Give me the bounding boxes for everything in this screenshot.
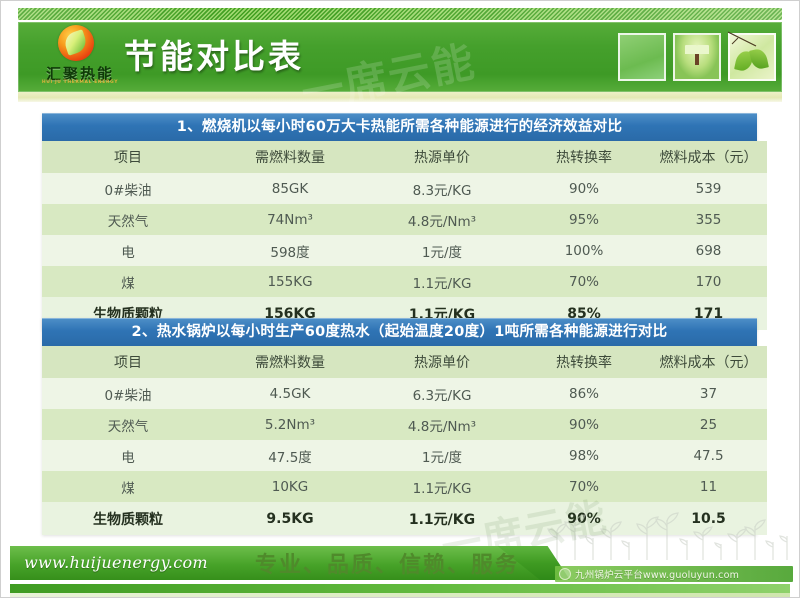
cell: 1.1元/KG xyxy=(366,502,518,535)
cell: 煤 xyxy=(42,266,214,297)
cell: 698 xyxy=(650,235,767,266)
comparison-table-2: 2、热水锅炉以每小时生产60度热水（起始温度20度）1吨所需各种能源进行对比 项… xyxy=(42,318,757,535)
cell: 11 xyxy=(650,471,767,502)
footer-slogan: 专业、品质、信赖、服务 xyxy=(255,547,519,579)
table-row: 0#柴油 85GK 8.3元/KG 90% 539 xyxy=(42,173,767,204)
header-underline xyxy=(18,92,782,102)
table-row: 电 598度 1元/度 100% 698 xyxy=(42,235,767,266)
cell: 生物质颗粒 xyxy=(42,502,214,535)
cell: 98% xyxy=(518,440,650,471)
cell: 电 xyxy=(42,440,214,471)
thumbnail-green-panel xyxy=(618,33,666,81)
table-2-grid: 项目 需燃料数量 热源单价 热转换率 燃料成本（元） 0#柴油 4.5GK 6.… xyxy=(42,346,767,535)
cell: 155KG xyxy=(214,266,366,297)
platform-badge-icon xyxy=(559,568,571,580)
cell: 4.5GK xyxy=(214,378,366,409)
table-1-col-header: 热源单价 xyxy=(366,141,518,173)
table-1-col-header: 燃料成本（元） xyxy=(650,141,767,173)
cell: 4.8元/Nm³ xyxy=(366,204,518,235)
header-hatch-strip xyxy=(18,8,782,20)
thumbnail-sprout-photo xyxy=(673,33,721,81)
cell: 1.1元/KG xyxy=(366,266,518,297)
cell: 100% xyxy=(518,235,650,266)
logo-english-name: HUI JU THERMAL ENERGY xyxy=(28,80,132,85)
cell: 86% xyxy=(518,378,650,409)
footer-light-bar xyxy=(10,593,790,597)
cell: 6.3元/KG xyxy=(366,378,518,409)
cell: 1元/度 xyxy=(366,235,518,266)
cell: 47.5 xyxy=(650,440,767,471)
table-row: 电 47.5度 1元/度 98% 47.5 xyxy=(42,440,767,471)
slide-header: 汇聚热能 HUI JU THERMAL ENERGY 节能对比表 xyxy=(0,0,800,106)
table-1-title: 1、燃烧机以每小时60万大卡热能所需各种能源进行的经济效益对比 xyxy=(42,113,757,141)
table-row: 天然气 74Nm³ 4.8元/Nm³ 95% 355 xyxy=(42,204,767,235)
cell: 0#柴油 xyxy=(42,378,214,409)
company-logo: 汇聚热能 HUI JU THERMAL ENERGY xyxy=(28,24,132,90)
footer-website-url[interactable]: www.huijuenergy.com xyxy=(24,553,208,572)
cell: 电 xyxy=(42,235,214,266)
cell: 5.2Nm³ xyxy=(214,409,366,440)
table-2-col-header: 需燃料数量 xyxy=(214,346,366,378)
cell: 95% xyxy=(518,204,650,235)
cell: 539 xyxy=(650,173,767,204)
platform-watermark-text: 九州锅炉云平台www.guoluyun.com xyxy=(575,567,739,581)
cell: 8.3元/KG xyxy=(366,173,518,204)
cell: 74Nm³ xyxy=(214,204,366,235)
page-title: 节能对比表 xyxy=(124,30,304,78)
cell: 90% xyxy=(518,409,650,440)
cell: 25 xyxy=(650,409,767,440)
footer-green-bar xyxy=(10,584,790,593)
table-1-header-row: 项目 需燃料数量 热源单价 热转换率 燃料成本（元） xyxy=(42,141,767,173)
table-row: 天然气 5.2Nm³ 4.8元/Nm³ 90% 25 xyxy=(42,409,767,440)
cell: 47.5度 xyxy=(214,440,366,471)
table-row: 煤 10KG 1.1元/KG 70% 11 xyxy=(42,471,767,502)
table-2-header-row: 项目 需燃料数量 热源单价 热转换率 燃料成本（元） xyxy=(42,346,767,378)
cell: 9.5KG xyxy=(214,502,366,535)
cell: 355 xyxy=(650,204,767,235)
table-2-title: 2、热水锅炉以每小时生产60度热水（起始温度20度）1吨所需各种能源进行对比 xyxy=(42,318,757,346)
cell: 70% xyxy=(518,471,650,502)
comparison-table-1: 1、燃烧机以每小时60万大卡热能所需各种能源进行的经济效益对比 项目 需燃料数量… xyxy=(42,113,757,330)
cell: 4.8元/Nm³ xyxy=(366,409,518,440)
table-1-grid: 项目 需燃料数量 热源单价 热转换率 燃料成本（元） 0#柴油 85GK 8.3… xyxy=(42,141,767,330)
cell: 煤 xyxy=(42,471,214,502)
table-2-col-header: 项目 xyxy=(42,346,214,378)
slide-canvas: 汇聚热能 HUI JU THERMAL ENERGY 节能对比表 一席云能 1、… xyxy=(0,0,800,598)
table-row: 0#柴油 4.5GK 6.3元/KG 86% 37 xyxy=(42,378,767,409)
cell: 90% xyxy=(518,173,650,204)
table-1-col-header: 需燃料数量 xyxy=(214,141,366,173)
flame-leaf-logo-icon xyxy=(58,25,94,61)
cell: 1.1元/KG xyxy=(366,471,518,502)
cell: 0#柴油 xyxy=(42,173,214,204)
cell: 85GK xyxy=(214,173,366,204)
cell: 天然气 xyxy=(42,409,214,440)
table-2-col-header: 燃料成本（元） xyxy=(650,346,767,378)
cell: 10KG xyxy=(214,471,366,502)
cell: 70% xyxy=(518,266,650,297)
cell: 天然气 xyxy=(42,204,214,235)
table-1-col-header: 项目 xyxy=(42,141,214,173)
cell: 37 xyxy=(650,378,767,409)
cell: 598度 xyxy=(214,235,366,266)
table-2-col-header: 热源单价 xyxy=(366,346,518,378)
table-1-col-header: 热转换率 xyxy=(518,141,650,173)
cell: 1元/度 xyxy=(366,440,518,471)
watermark-platform-strip: 九州锅炉云平台www.guoluyun.com xyxy=(555,566,793,582)
table-row: 煤 155KG 1.1元/KG 70% 170 xyxy=(42,266,767,297)
thumbnail-leaves-photo xyxy=(728,33,776,81)
table-2-col-header: 热转换率 xyxy=(518,346,650,378)
cell: 170 xyxy=(650,266,767,297)
